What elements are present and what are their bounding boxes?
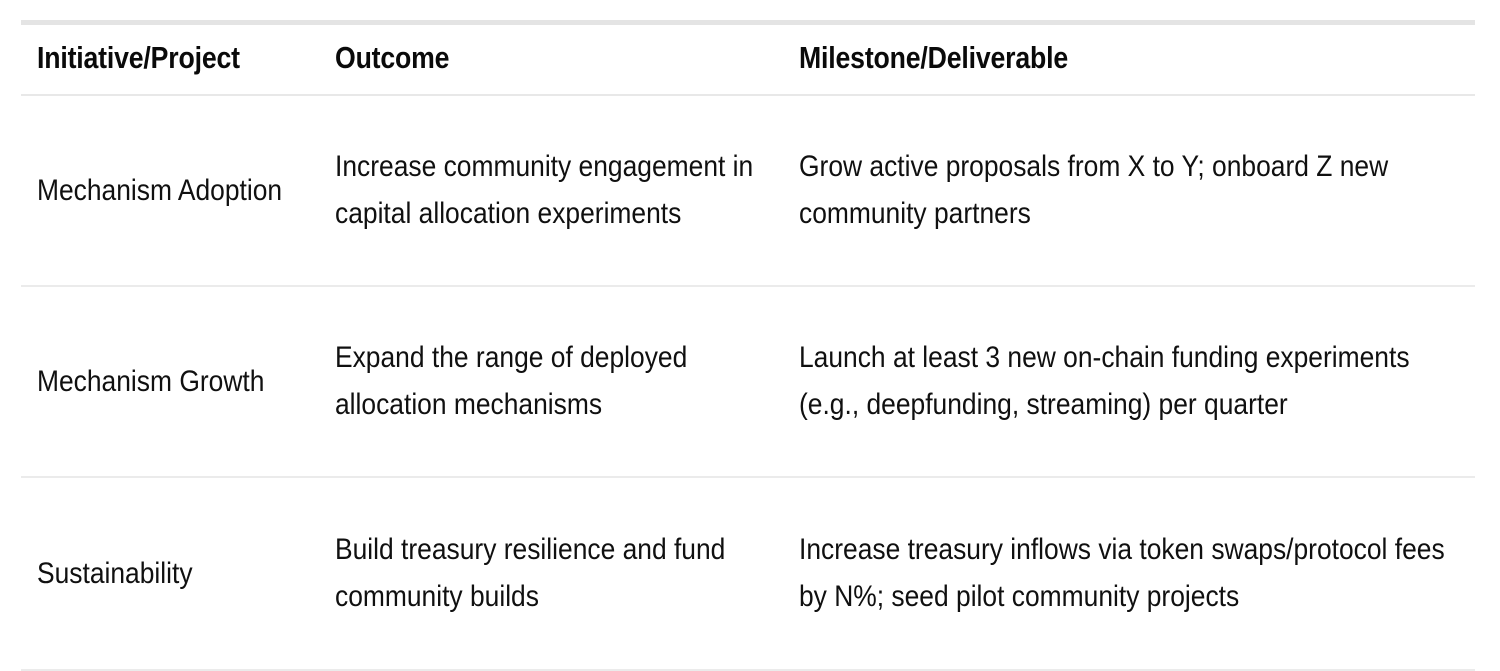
table-container: Initiative/Project Outcome Milestone/Del…	[21, 20, 1475, 671]
table-body: Mechanism Adoption Increase community en…	[21, 95, 1475, 670]
column-header-milestone-label: Milestone/Deliverable	[799, 39, 1068, 78]
cell-outcome-text: Build treasury resilience and fund commu…	[335, 526, 767, 621]
cell-initiative-text: Sustainability	[37, 550, 303, 597]
cell-initiative: Mechanism Growth	[21, 286, 319, 477]
cell-milestone: Launch at least 3 new on-chain funding e…	[783, 286, 1475, 477]
cell-outcome: Build treasury resilience and fund commu…	[319, 477, 783, 670]
cell-initiative: Sustainability	[21, 477, 319, 670]
column-header-initiative: Initiative/Project	[21, 25, 319, 95]
cell-initiative: Mechanism Adoption	[21, 95, 319, 286]
table-row: Mechanism Growth Expand the range of dep…	[21, 286, 1475, 477]
cell-outcome-text: Expand the range of deployed allocation …	[335, 334, 767, 429]
cell-milestone-text: Increase treasury inflows via token swap…	[799, 526, 1459, 621]
cell-milestone: Increase treasury inflows via token swap…	[783, 477, 1475, 670]
column-header-outcome: Outcome	[319, 25, 783, 95]
cell-outcome: Increase community engagement in capital…	[319, 95, 783, 286]
cell-milestone-text: Grow active proposals from X to Y; onboa…	[799, 143, 1459, 238]
column-header-milestone: Milestone/Deliverable	[783, 25, 1475, 95]
column-header-initiative-label: Initiative/Project	[37, 39, 240, 78]
table-header-row: Initiative/Project Outcome Milestone/Del…	[21, 25, 1475, 95]
column-header-outcome-label: Outcome	[335, 39, 449, 78]
initiatives-table: Initiative/Project Outcome Milestone/Del…	[21, 25, 1475, 671]
table-header: Initiative/Project Outcome Milestone/Del…	[21, 25, 1475, 95]
cell-milestone-text: Launch at least 3 new on-chain funding e…	[799, 334, 1459, 429]
cell-initiative-text: Mechanism Adoption	[37, 167, 303, 214]
table-row: Sustainability Build treasury resilience…	[21, 477, 1475, 670]
cell-outcome: Expand the range of deployed allocation …	[319, 286, 783, 477]
cell-initiative-text: Mechanism Growth	[37, 358, 303, 405]
cell-outcome-text: Increase community engagement in capital…	[335, 143, 767, 238]
cell-milestone: Grow active proposals from X to Y; onboa…	[783, 95, 1475, 286]
table-row: Mechanism Adoption Increase community en…	[21, 95, 1475, 286]
